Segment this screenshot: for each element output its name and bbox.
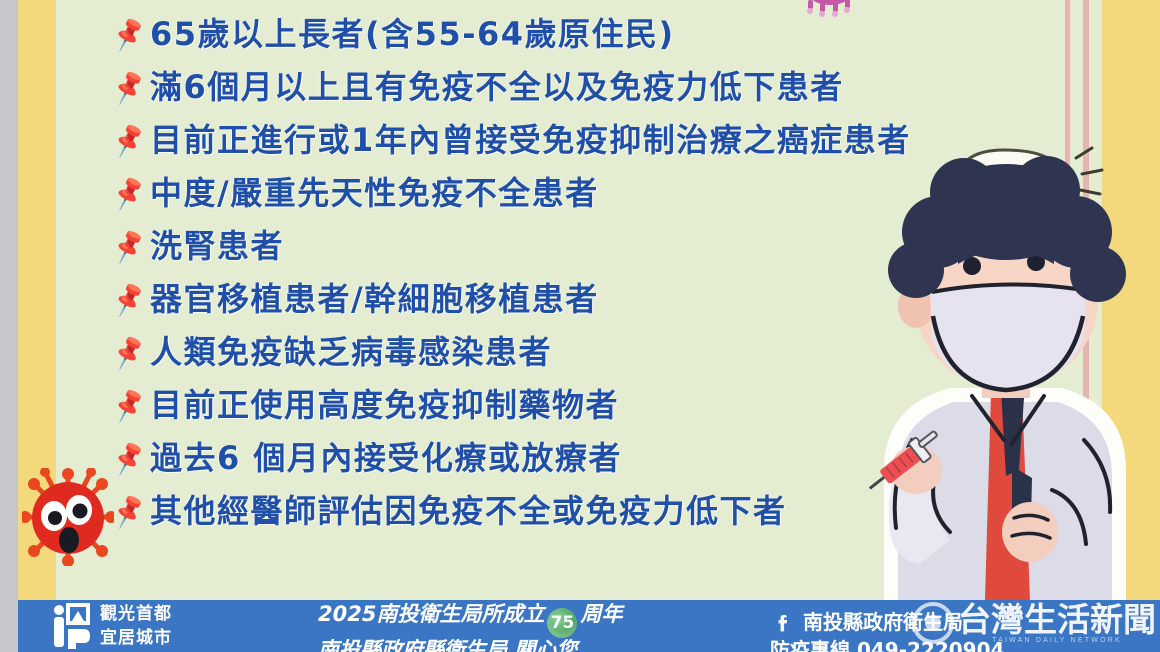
watermark-text-group: 台灣生活新聞 TAIWAN DAILY NETWORK	[958, 603, 1156, 644]
list-item: 📌 65歲以上長者(含55-64歲原住民)	[108, 8, 1088, 61]
pushpin-icon: 📌	[101, 374, 157, 437]
list-item-label: 65歲以上長者(含55-64歲原住民)	[150, 8, 675, 61]
watermark-title: 台灣生活新聞	[958, 600, 1156, 639]
list-item-label: 過去6 個月內接受化療或放療者	[150, 432, 622, 485]
list-item: 📌 滿6個月以上且有免疫不全以及免疫力低下患者	[108, 61, 1088, 114]
pushpin-icon: 📌	[101, 215, 157, 278]
virus-character-icon	[22, 468, 114, 566]
facebook-icon	[770, 608, 796, 634]
pushpin-icon: 📌	[101, 268, 157, 331]
pushpin-icon: 📌	[101, 3, 157, 66]
letterbox-left	[0, 0, 18, 652]
footer-bar: 觀光首都 宜居城市 2025南投衛生局所成立75周年 南投縣政府縣衛生局 關心您…	[18, 600, 1160, 652]
anniversary-line1-suffix: 周年	[580, 602, 622, 626]
list-item-label: 洗腎患者	[150, 220, 284, 273]
county-logo-mark	[50, 603, 92, 649]
anniversary-badge: 75	[547, 608, 577, 638]
pushpin-icon: 📌	[101, 56, 157, 119]
list-item-label: 其他經醫師評估因免疫不全或免疫力低下者	[150, 485, 787, 538]
doctor-illustration	[854, 140, 1154, 600]
list-item-label: 目前正進行或1年內曾接受免疫抑制治療之癌症患者	[150, 114, 911, 167]
anniversary-line1-prefix: 2025南投衛生局所成立	[318, 602, 544, 626]
poster-frame: 📌 65歲以上長者(含55-64歲原住民) 📌 滿6個月以上且有免疫不全以及免疫…	[0, 0, 1160, 652]
list-item-label: 中度/嚴重先天性免疫不全患者	[150, 167, 599, 220]
pushpin-icon: 📌	[101, 321, 157, 384]
nantou-county-logo: 觀光首都 宜居城市	[50, 602, 172, 650]
anniversary-line2: 南投縣政府縣衛生局 關心您	[318, 638, 622, 652]
list-item-label: 滿6個月以上且有免疫不全以及免疫力低下患者	[150, 61, 844, 114]
list-item-label: 目前正使用高度免疫抑制藥物者	[150, 379, 619, 432]
pushpin-icon: 📌	[101, 162, 157, 225]
county-logo-text: 觀光首都 宜居城市	[100, 602, 172, 650]
pushpin-icon: 📌	[101, 109, 157, 172]
county-logo-line1: 觀光首都	[100, 604, 172, 624]
county-logo-line2: 宜居城市	[100, 628, 172, 648]
list-item-label: 人類免疫缺乏病毒感染患者	[150, 326, 552, 379]
watermark: 台灣生活新聞 TAIWAN DAILY NETWORK	[912, 602, 1156, 644]
list-item-label: 器官移植患者/幹細胞移植患者	[150, 273, 599, 326]
anniversary-text: 2025南投衛生局所成立75周年 南投縣政府縣衛生局 關心您	[318, 602, 622, 652]
watermark-circle-icon	[912, 602, 954, 644]
